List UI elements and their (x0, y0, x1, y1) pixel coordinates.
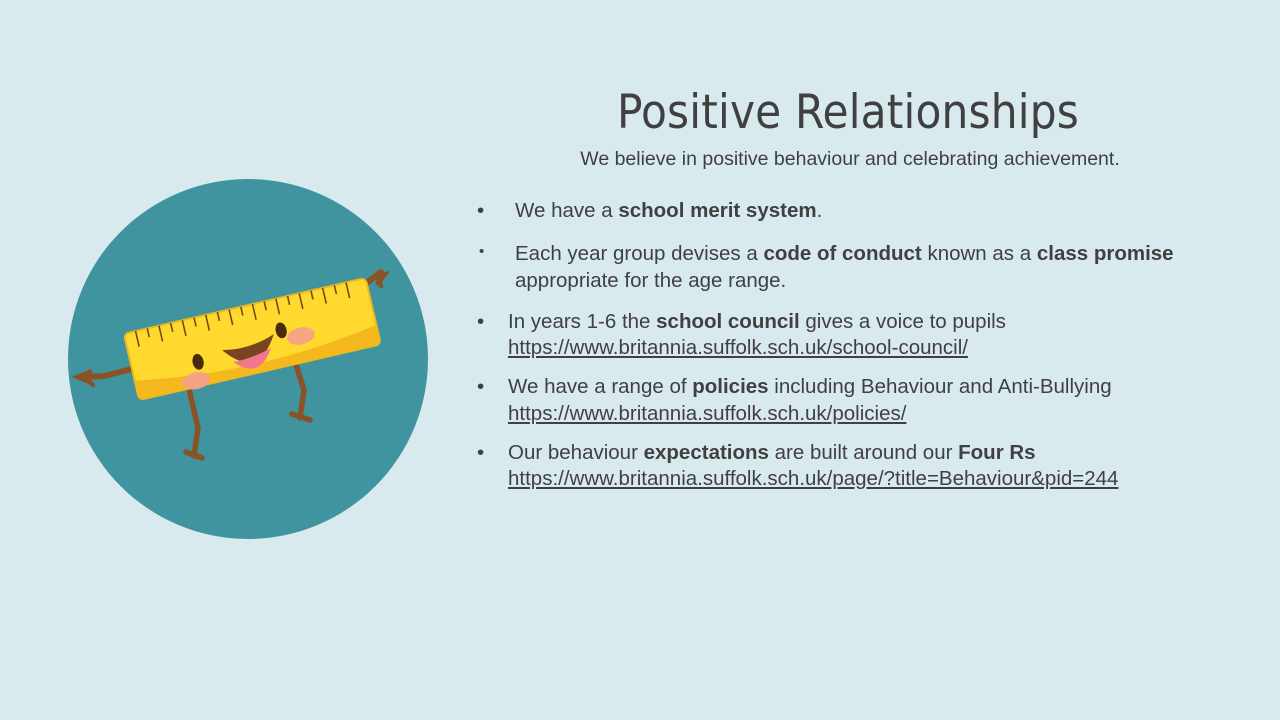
ruler-mascot-illustration (68, 178, 428, 540)
list-item: • Our behaviour expectations are built a… (463, 440, 1215, 492)
list-item-text: Our behaviour expectations are built aro… (508, 441, 1118, 490)
slide-canvas: Positive Relationships We believe in pos… (0, 0, 1280, 720)
ruler-mascot-svg (68, 178, 428, 540)
bullet-marker: • (477, 309, 484, 335)
bullet-list: • We have a school merit system. • Each … (455, 198, 1215, 492)
list-item-text: We have a school merit system. (515, 199, 822, 222)
list-item: • In years 1-6 the school council gives … (463, 309, 1215, 361)
list-item-text: In years 1-6 the school council gives a … (508, 310, 1006, 359)
bullet-marker: • (477, 440, 484, 466)
bullet-marker: • (477, 374, 484, 400)
school-council-link[interactable]: https://www.britannia.suffolk.sch.uk/sch… (508, 336, 968, 359)
list-item: • We have a range of policies including … (463, 374, 1215, 426)
page-title: Positive Relationships (455, 88, 1215, 139)
list-item: • Each year group devises a code of cond… (463, 241, 1215, 293)
subtitle: We believe in positive behaviour and cel… (455, 148, 1215, 171)
bullet-marker: • (479, 242, 484, 261)
list-item-text: We have a range of policies including Be… (508, 375, 1112, 424)
bullet-marker: • (477, 198, 484, 224)
list-item: • We have a school merit system. (463, 198, 1215, 224)
list-item-text: Each year group devises a code of conduc… (515, 242, 1174, 291)
policies-link[interactable]: https://www.britannia.suffolk.sch.uk/pol… (508, 402, 906, 425)
behaviour-policy-link[interactable]: https://www.britannia.suffolk.sch.uk/pag… (508, 467, 1118, 490)
text-content-column: Positive Relationships We believe in pos… (455, 88, 1215, 492)
